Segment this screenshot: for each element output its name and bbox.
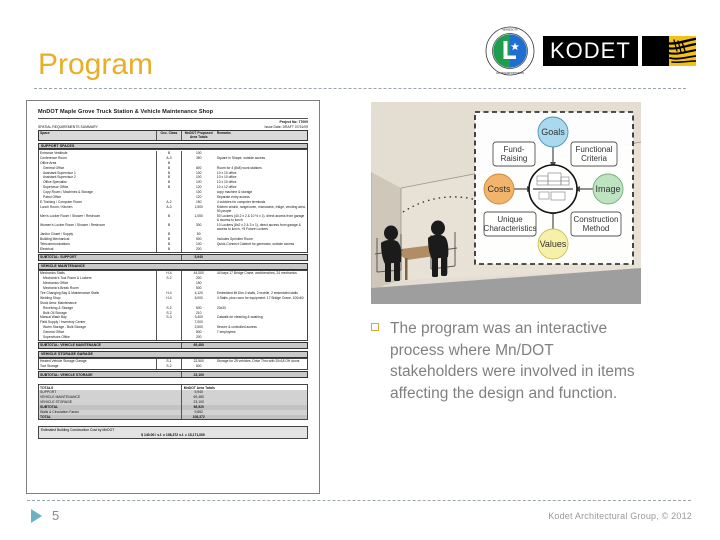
cell-remark (216, 335, 307, 340)
cell-space: Women's Locker Room / Shower / Restroom (39, 223, 157, 232)
subtotal-spacer (157, 343, 181, 348)
estimated-cost-formula: $ 140.00 / s.f. x 108,372 s.f. = (141, 433, 187, 437)
svg-text:Image: Image (595, 184, 620, 194)
col-header-occ: Occ. Class (157, 131, 181, 140)
cell-occ: A-3 (157, 204, 181, 213)
cell-remark: Storage for 25 vehicles, Drive Thru with… (216, 359, 307, 364)
table-row: Lunch Room / KitchenA-31,500Kitchen w/si… (39, 204, 307, 213)
footer-divider (27, 500, 691, 501)
spatial-requirements-document: MnDOT Maple Grove Truck Station & Vehicl… (26, 100, 320, 494)
section-subtotal: SUBTOTAL: VEHICLE MAINTENANCE69,480 (38, 342, 308, 349)
cell-area: 300 (181, 223, 216, 232)
kodet-brush-mark-icon (642, 36, 696, 66)
table-row: ElectricalB200 (39, 247, 307, 252)
cell-remark: Quick-Connect Cabinet for generator, out… (216, 242, 307, 247)
list-item: The program was an interactive process w… (371, 318, 643, 404)
subtotal-label: SUBTOTAL: VEHICLE MAINTENANCE (39, 343, 157, 348)
svg-text:MINNESOTA: MINNESOTA (502, 28, 517, 32)
project-no: Project No: 77009 (280, 120, 308, 124)
subtotal-label: SUBTOTAL: VEHICLE STORAGE (39, 372, 157, 377)
document-subtitle: SPATIAL REQUIREMENTS SUMMARY (38, 125, 98, 129)
cell-remark: 50 Lockers (40.2 x 2 & 10 ½ x 1), direct… (216, 214, 307, 223)
totals-total-label: TOTAL (39, 415, 157, 420)
estimated-cost-box: Estimated Building Construction Cost by … (38, 426, 308, 439)
document-title: MnDOT Maple Grove Truck Station & Vehicl… (38, 109, 312, 115)
svg-text:Construction: Construction (574, 215, 619, 224)
cell-space: Lunch Room / Kitchen (39, 204, 157, 213)
slide: Program MINNESOTA OF TRANSPORTATION KODE… (0, 0, 720, 540)
slide-number: 5 (52, 508, 59, 523)
cell-space: Men's Locker Room / Shower / Restroom (39, 214, 157, 223)
section-header: SUPPORT SPACES (38, 143, 308, 150)
cell-occ (157, 335, 181, 340)
play-triangle-icon (31, 509, 42, 523)
logo-group: MINNESOTA OF TRANSPORTATION KODET (485, 26, 696, 76)
totals-total-value: 108,372 (181, 415, 216, 420)
subtotal-value: 5,940 (181, 255, 216, 260)
section-header: VEHICLE MAINTENANCE (38, 263, 308, 270)
cell-area: 1,050 (181, 214, 216, 223)
svg-text:Characteristics: Characteristics (484, 224, 537, 233)
totals-table: TOTALS MnDOT Area Totals SUPPORT5,940VEH… (38, 384, 308, 420)
svg-text:Method: Method (583, 224, 610, 233)
svg-text:OF TRANSPORTATION: OF TRANSPORTATION (496, 71, 524, 75)
table-header-band: Space Occ. Class MnDOT Proposed Area Tot… (38, 130, 308, 141)
body-bullet-list: The program was an interactive process w… (371, 318, 643, 404)
cell-occ: S-2 (157, 364, 181, 369)
cell-area: 200 (181, 247, 216, 252)
svg-text:Functional: Functional (576, 145, 613, 154)
bullet-text: The program was an interactive process w… (390, 318, 643, 404)
svg-text:Goals: Goals (541, 127, 565, 137)
document-meta-projectno: Project No: 77009 (38, 120, 308, 124)
cell-occ: B (157, 247, 181, 252)
cell-space: Electrical (39, 247, 157, 252)
col-header-space: Space (39, 131, 157, 140)
estimated-cost-label: Estimated Building Construction Cost by … (41, 428, 305, 432)
cell-space: Tool Storage (39, 364, 157, 369)
svg-text:Raising: Raising (501, 154, 528, 163)
cell-area: 600 (181, 364, 216, 369)
totals-header-value: MnDOT Area Totals (181, 385, 216, 390)
cell-space: Supervisors Office (39, 335, 157, 340)
cell-remark: 10 Lockers (8x2 x 2 & 3 x 1), direct acc… (216, 223, 307, 232)
subtotal-value: 23,100 (181, 372, 216, 377)
document-meta-row: SPATIAL REQUIREMENTS SUMMARY Issue Date:… (38, 125, 308, 129)
svg-text:Fund-: Fund- (504, 145, 525, 154)
footer-credit: Kodet Architectural Group, © 2012 (548, 511, 692, 521)
issue-date: Issue Date: DRAFT 07/31/09 (265, 125, 308, 129)
subtotal-spacer2 (216, 372, 307, 377)
subtotal-spacer (157, 372, 181, 377)
cell-remark: Embedded lift Dim 4 stalls, 2 mobile, 2 … (216, 291, 307, 296)
cell-remark (216, 364, 307, 369)
cell-area: 200 (181, 335, 216, 340)
section-subtotal: SUBTOTAL: VEHICLE STORAGE23,100 (38, 371, 308, 378)
section-rows: Entrance VestibuleB100Conference RoomA-3… (38, 149, 308, 253)
subtotal-value: 69,480 (181, 343, 216, 348)
kodet-logo: KODET (543, 36, 696, 66)
cell-remark: 4 Stalls, plus room for equipment, 17 Br… (216, 296, 307, 301)
cell-occ: B (157, 223, 181, 232)
cell-occ: B (157, 214, 181, 223)
svg-text:Unique: Unique (497, 215, 523, 224)
table-row: Supervisors Office200 (39, 335, 307, 340)
svg-text:Criteria: Criteria (581, 154, 607, 163)
estimated-cost-value: 15,171,000 (188, 433, 205, 437)
subtotal-spacer2 (216, 343, 307, 348)
table-row: Tool StorageS-2600 (39, 364, 307, 369)
col-header-area: MnDOT Proposed Area Totals (181, 131, 216, 140)
section-rows: Mechanics StallsH-444,00044 bays 17 Brid… (38, 270, 308, 341)
square-bullet-icon (371, 323, 379, 331)
cell-area: 1,500 (181, 204, 216, 213)
svg-text:Costs: Costs (487, 184, 511, 194)
title-divider (34, 88, 686, 89)
cell-remark: 44 bays 17 Bridge Crane, workbenches, 24… (216, 271, 307, 276)
section-header: VEHICLE STORAGE GARAGE (38, 351, 308, 358)
table-row: Men's Locker Room / Shower / RestroomB1,… (39, 214, 307, 223)
document-title-rule (38, 118, 308, 119)
cell-remark: Kitchen w/sink, range/oven, microwave, f… (216, 204, 307, 213)
estimated-cost-line: $ 140.00 / s.f. x 108,372 s.f. = 15,171,… (41, 433, 305, 437)
section-subtotal: SUBTOTAL: SUPPORT5,940 (38, 254, 308, 261)
cell-remark (216, 247, 307, 252)
subtotal-label: SUBTOTAL: SUPPORT (39, 255, 157, 260)
subtotal-spacer2 (216, 255, 307, 260)
svg-text:Values: Values (540, 239, 567, 249)
subtotal-spacer (157, 255, 181, 260)
kodet-wordmark-text: KODET (543, 36, 638, 66)
meeting-room-diagram-image: Goals Costs Image Values Fund- Raising F… (371, 102, 641, 304)
mndot-seal-icon: MINNESOTA OF TRANSPORTATION (485, 26, 535, 76)
section-rows: Heated Vehicle Storage GarageS-122,500St… (38, 358, 308, 371)
document-sections: SUPPORT SPACESEntrance VestibuleB100Conf… (34, 143, 312, 379)
page-title: Program (38, 47, 153, 83)
col-header-remarks: Remarks (216, 131, 307, 140)
table-row: Women's Locker Room / Shower / RestroomB… (39, 223, 307, 232)
